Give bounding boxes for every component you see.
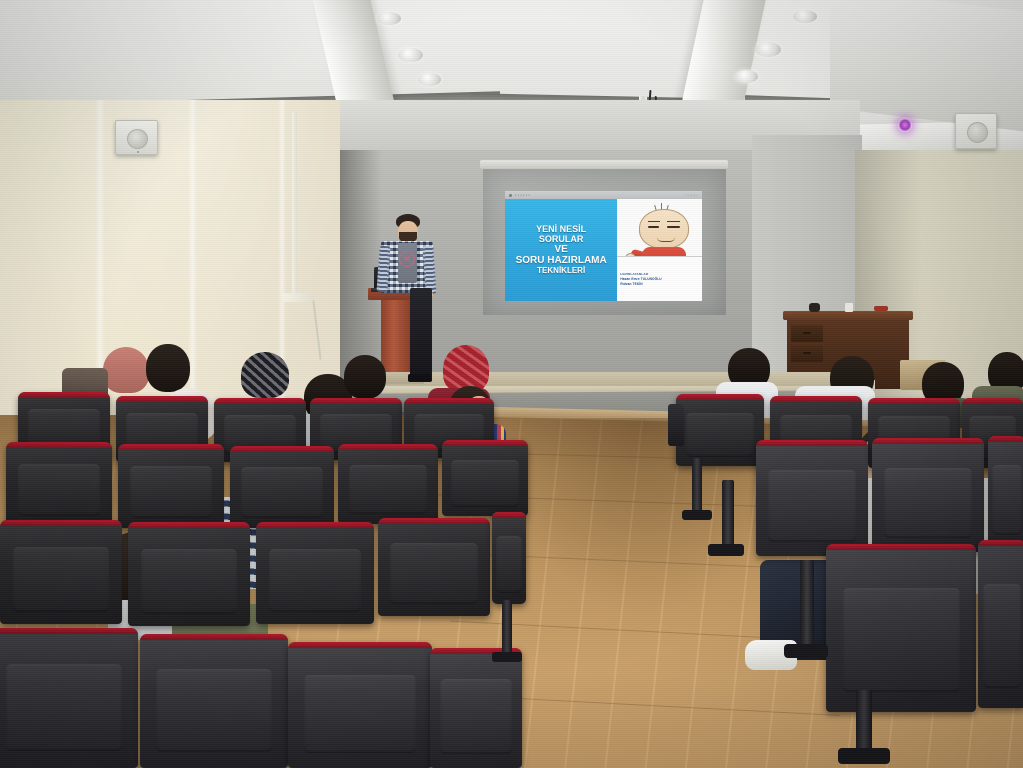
- slide-app-chrome: ▪ ▪ ▪ ▪ ▪ ▪ ▫ ▫ ▫ ▫ ▫: [505, 191, 702, 199]
- cartoon-brow-icon: [648, 221, 660, 222]
- seat-leg: [800, 560, 814, 652]
- wall-conduit: [292, 112, 297, 297]
- slide-right-column: HAZIRLAYANLAR Hasan Emre TULUNOĞLU Rıdva…: [617, 199, 702, 301]
- seat[interactable]: [6, 442, 112, 526]
- desk-item-red: [874, 306, 888, 311]
- slide-title-block: YENİ NESİL SORULAR VE SORU HAZIRLAMA TEK…: [505, 199, 617, 301]
- seat[interactable]: [128, 522, 250, 626]
- seat[interactable]: [256, 522, 374, 624]
- seat[interactable]: [988, 436, 1023, 548]
- seat[interactable]: [0, 628, 138, 768]
- seat-foot: [708, 544, 744, 556]
- credits-name: Hasan Emre TULUNOĞLU: [620, 277, 699, 281]
- student-headscarf-salmon: [103, 347, 149, 393]
- downlight-icon: [377, 12, 401, 25]
- cartoon-eye-icon: [648, 226, 659, 228]
- slide-title-line: VE: [555, 245, 568, 255]
- chrome-right-hint: ▫ ▫ ▫ ▫ ▫: [686, 193, 698, 197]
- speaker-screw-icon: [137, 151, 139, 153]
- seat[interactable]: [676, 394, 764, 466]
- desk-item-dark: [809, 303, 820, 312]
- seat-leg: [722, 480, 734, 552]
- wall-speaker-right: [955, 113, 997, 149]
- seat-foot: [492, 652, 522, 662]
- seat[interactable]: [118, 444, 224, 528]
- seat[interactable]: [430, 648, 522, 768]
- desk-item-cup: [845, 303, 853, 312]
- seat[interactable]: [872, 438, 984, 552]
- slide-body: YENİ NESİL SORULAR VE SORU HAZIRLAMA TEK…: [505, 199, 702, 301]
- slide-title-line: YENİ NESİL: [536, 225, 586, 234]
- student-dark-hair-ponytail: [146, 344, 190, 392]
- scene-title: Seminar in a school auditorium: [0, 0, 1, 1]
- slide-title-line: TEKNİKLERİ: [537, 267, 585, 275]
- seat[interactable]: [978, 540, 1023, 708]
- side-desk-top: [783, 311, 913, 320]
- credits-heading: HAZIRLAYANLAR: [620, 272, 699, 276]
- seat[interactable]: [492, 512, 526, 604]
- speaker-cone-icon: [967, 122, 988, 143]
- seat[interactable]: [0, 520, 122, 624]
- student-dark-hair-tall: [344, 355, 386, 399]
- seat[interactable]: [756, 440, 868, 556]
- downlight-icon: [793, 10, 817, 23]
- student-headscarf-black-pattern: [241, 352, 289, 398]
- wall-speaker-left: [115, 120, 158, 155]
- seat[interactable]: [288, 642, 432, 768]
- seat[interactable]: [338, 444, 438, 524]
- speaker-cone-icon: [127, 129, 148, 149]
- purple-indicator-light: [898, 118, 912, 132]
- seat-foot: [838, 748, 890, 764]
- presenter-tshirt-logo: M: [399, 251, 415, 267]
- chrome-dot-icon: [509, 194, 512, 197]
- slide-credits: HAZIRLAYANLAR Hasan Emre TULUNOĞLU Rıdva…: [617, 257, 702, 301]
- seat-foot: [682, 510, 712, 520]
- slide-title-line: SORU HAZIRLAMA: [516, 256, 607, 266]
- projected-slide: ▪ ▪ ▪ ▪ ▪ ▪ ▫ ▫ ▫ ▫ ▫ YENİ NESİL SORULAR…: [505, 191, 702, 301]
- chrome-menu-hint: ▪ ▪ ▪ ▪ ▪ ▪: [515, 193, 530, 197]
- downlight-icon: [755, 42, 781, 57]
- downlight-icon: [418, 73, 441, 86]
- seat[interactable]: [140, 634, 288, 768]
- projection-screen: ▪ ▪ ▪ ▪ ▪ ▪ ▫ ▫ ▫ ▫ ▫ YENİ NESİL SORULAR…: [483, 169, 726, 315]
- photograph-seminar-hall: ▪ ▪ ▪ ▪ ▪ ▪ ▫ ▫ ▫ ▫ ▫ YENİ NESİL SORULAR…: [0, 0, 1023, 768]
- seat[interactable]: [378, 518, 490, 616]
- seat[interactable]: [826, 544, 976, 712]
- cartoon-head-icon: [639, 209, 689, 249]
- cartoon-boy-thumbs-up-icon: [617, 199, 702, 257]
- seat[interactable]: [442, 440, 528, 516]
- cartoon-eye-icon: [667, 226, 680, 228]
- downlight-icon: [735, 70, 758, 83]
- seat[interactable]: [230, 446, 334, 528]
- seat-foot: [784, 644, 828, 658]
- credits-name: Rıdvan TEKİN: [620, 282, 699, 286]
- desk-knob-icon: [803, 352, 811, 354]
- slide-title-line: SORULAR: [539, 235, 584, 244]
- downlight-icon: [398, 48, 423, 62]
- presenter-shoe: [408, 374, 432, 382]
- presenter-legs: [410, 288, 432, 378]
- desk-knob-icon: [803, 332, 811, 334]
- seat-leg: [692, 458, 702, 516]
- seat-leg: [502, 600, 512, 658]
- wall-conduit-box: [283, 293, 315, 302]
- screen-housing: [480, 160, 728, 169]
- cartoon-brow-icon: [667, 221, 680, 222]
- seat-arm: [668, 404, 684, 446]
